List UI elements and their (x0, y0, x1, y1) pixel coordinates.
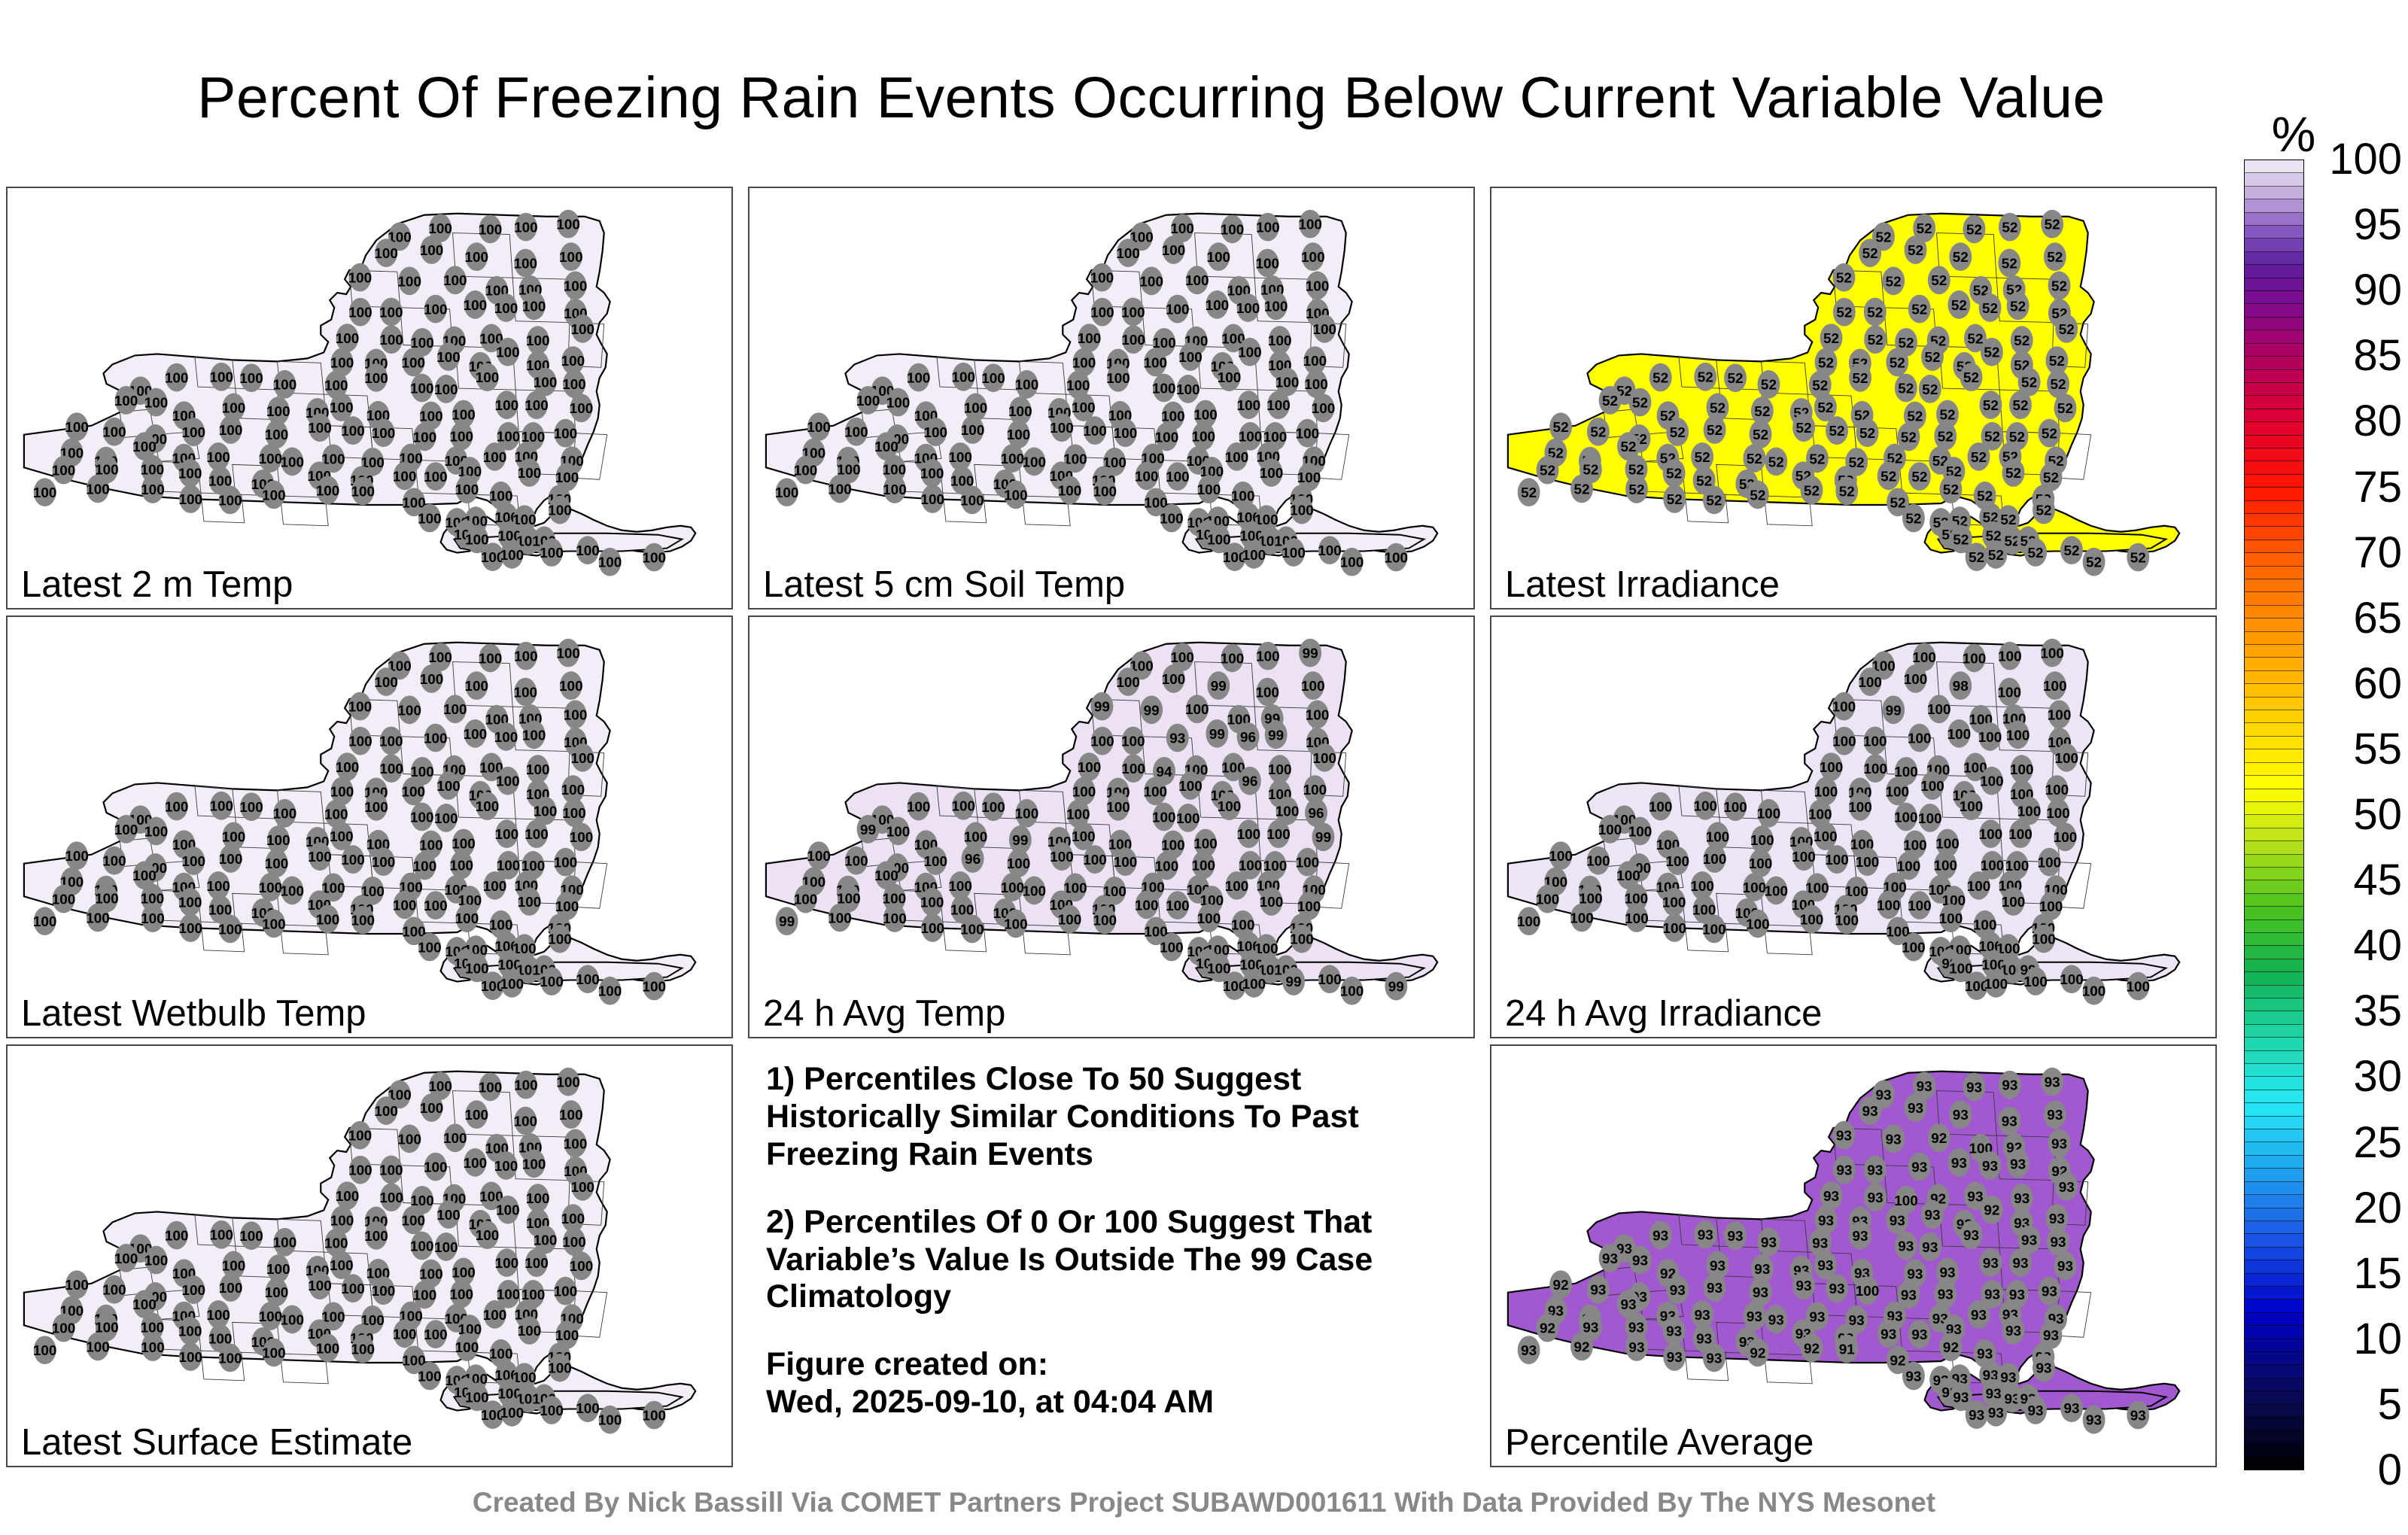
station-value: 100 (1072, 829, 1096, 845)
station-value: 52 (1988, 548, 2004, 564)
station-marker: 52 (1999, 213, 2021, 242)
station-value: 100 (86, 910, 110, 926)
station-value: 52 (1590, 425, 1606, 441)
station-value: 100 (1984, 977, 2008, 992)
station-value: 100 (514, 1078, 538, 1094)
station-value: 100 (102, 1283, 126, 1299)
station-value: 100 (496, 1203, 520, 1219)
station-value: 100 (1225, 879, 1249, 895)
station-value: 100 (1170, 221, 1194, 237)
station-value: 100 (2054, 830, 2078, 846)
colorbar-band (2245, 1405, 2303, 1418)
station-value: 100 (483, 1308, 507, 1324)
station-value: 100 (555, 470, 579, 486)
station-marker: 52 (2083, 548, 2105, 576)
colorbar-band (2245, 828, 2303, 841)
panel-latest-5cm-soil-temp[interactable]: 1001001001001001001001001001001001001001… (748, 187, 1475, 609)
station-value: 93 (1698, 1228, 1713, 1244)
station-value: 100 (144, 1254, 169, 1269)
station-value: 100 (455, 911, 479, 927)
station-marker: 91 (1835, 1335, 1858, 1363)
station-marker: 52 (1968, 442, 1990, 471)
station-value: 93 (1652, 1229, 1668, 1245)
colorbar-band (2245, 933, 2303, 946)
station-value: 93 (2005, 1324, 2021, 1339)
station-marker: 52 (2033, 496, 2055, 524)
station-value: 100 (132, 868, 157, 884)
station-value: 93 (1521, 1343, 1537, 1359)
station-marker: 93 (2055, 1172, 2078, 1201)
station-value: 100 (413, 430, 437, 445)
station-value: 100 (1015, 378, 1039, 394)
station-value: 100 (883, 911, 907, 927)
station-marker: 93 (1792, 1271, 1815, 1299)
colorbar-tick: 10 (2353, 1318, 2402, 1361)
station-value: 100 (643, 980, 667, 995)
station-value: 100 (923, 854, 947, 870)
station-value: 100 (907, 800, 931, 816)
station-marker: 52 (1856, 418, 1879, 447)
colorbar-band (2245, 396, 2303, 409)
colorbar-band (2245, 187, 2303, 199)
station-value: 100 (1001, 451, 1025, 467)
station-value: 100 (1260, 466, 1284, 482)
station-value: 100 (410, 810, 434, 826)
station-value: 93 (1905, 1369, 1921, 1385)
station-marker: 99 (1299, 639, 1321, 667)
station-value: 100 (418, 512, 442, 527)
station-value: 100 (1318, 543, 1342, 559)
station-value: 91 (1839, 1342, 1855, 1357)
station-value: 100 (1897, 859, 1921, 874)
station-value: 100 (1231, 489, 1255, 505)
colorbar-band (2245, 1025, 2303, 1038)
station-marker: 93 (2054, 1251, 2077, 1280)
station-value: 100 (2045, 783, 2069, 798)
station-value: 100 (222, 829, 246, 845)
station-value: 100 (1856, 1284, 1880, 1299)
station-value: 100 (1161, 837, 1185, 853)
station-marker: 52 (1518, 478, 1540, 506)
station-value: 100 (1160, 512, 1184, 527)
station-value: 100 (1007, 856, 1031, 872)
station-value: 100 (1723, 800, 1747, 816)
station-value: 100 (465, 532, 489, 548)
panel-label-latest-wetbulb-temp: Latest Wetbulb Temp (21, 995, 366, 1032)
station-value: 100 (2023, 974, 2048, 990)
station-value: 100 (514, 1114, 538, 1130)
station-value: 100 (420, 243, 444, 259)
station-value: 100 (1050, 850, 1074, 865)
station-value: 100 (2048, 707, 2072, 723)
panel-label-latest-irradiance: Latest Irradiance (1505, 567, 1780, 603)
station-value: 52 (1818, 355, 1834, 371)
panel-latest-surface-estimate[interactable]: 1001001001001001001001001001001001001001… (6, 1044, 733, 1467)
station-value: 100 (464, 298, 488, 314)
station-value: 93 (1812, 1236, 1828, 1251)
station-value: 93 (1590, 1283, 1606, 1299)
colorbar-band (2245, 1090, 2303, 1103)
station-value: 52 (1862, 246, 1878, 262)
station-value: 100 (2039, 899, 2063, 915)
station-value: 100 (483, 879, 507, 895)
station-value: 100 (1066, 807, 1090, 822)
station-value: 100 (1628, 825, 1652, 840)
station-marker: 52 (1979, 293, 2002, 322)
colorbar-band (2245, 330, 2303, 343)
station-value: 52 (2042, 427, 2057, 442)
station-value: 100 (393, 1327, 417, 1342)
station-value: 100 (324, 378, 348, 394)
station-value: 100 (364, 800, 388, 816)
station-value: 100 (424, 1327, 448, 1343)
station-marker: 52 (1895, 374, 1917, 403)
station-marker: 52 (1984, 540, 2007, 569)
station-value: 100 (52, 1321, 76, 1337)
station-value: 100 (419, 409, 443, 424)
station-value: 52 (1859, 426, 1875, 442)
station-value: 52 (1953, 532, 1969, 548)
station-value: 100 (1385, 551, 1409, 567)
station-marker: 52 (1905, 236, 1927, 264)
station-value: 100 (1135, 469, 1159, 485)
station-value: 52 (1907, 409, 1923, 424)
station-value: 100 (1207, 961, 1231, 977)
colorbar-tick: 85 (2353, 334, 2402, 378)
station-value: 100 (1242, 977, 1266, 992)
station-value: 100 (496, 345, 520, 361)
colorbar-tick: 15 (2353, 1252, 2402, 1296)
station-value: 100 (1918, 811, 1942, 827)
station-value: 100 (218, 1351, 242, 1366)
station-marker: 99 (776, 907, 798, 935)
colorbar-tick: 80 (2353, 400, 2402, 443)
station-value: 100 (948, 450, 972, 466)
station-marker: 52 (1859, 239, 1881, 267)
station-value: 52 (1868, 333, 1884, 348)
station-value: 96 (1242, 774, 1257, 790)
station-value: 52 (1951, 298, 1967, 314)
colorbar-band (2245, 501, 2303, 514)
station-value: 100 (336, 331, 360, 347)
station-value: 100 (1290, 503, 1314, 519)
station-value: 100 (239, 1229, 263, 1245)
station-value: 100 (1303, 354, 1327, 369)
station-value: 100 (1690, 879, 1714, 895)
station-marker: 52 (2024, 538, 2047, 567)
station-value: 100 (1318, 972, 1342, 988)
station-value: 100 (265, 1285, 289, 1301)
station-marker: 52 (1758, 370, 1780, 399)
colorbar-band (2245, 1011, 2303, 1024)
station-value: 93 (1917, 1079, 1932, 1095)
station-value: 52 (1969, 550, 1984, 566)
station-value: 100 (2002, 895, 2026, 910)
station-value: 93 (1823, 1189, 1839, 1205)
station-value: 100 (1570, 910, 1594, 926)
station-value: 100 (561, 354, 585, 369)
station-value: 52 (2021, 375, 2037, 391)
station-value: 100 (1178, 779, 1202, 795)
station-value: 52 (1553, 420, 1569, 436)
station-value: 100 (775, 485, 799, 501)
station-value: 52 (1812, 378, 1828, 394)
station-value: 100 (273, 807, 297, 822)
station-value: 100 (1978, 730, 2002, 746)
station-value: 100 (324, 1236, 348, 1251)
colorbar-band (2245, 1274, 2303, 1287)
station-marker: 93 (1905, 1093, 1927, 1122)
station-value: 100 (330, 355, 354, 371)
station-marker: 52 (1820, 324, 1843, 352)
station-value: 100 (1306, 278, 1330, 294)
station-value: 100 (141, 1340, 165, 1356)
station-value: 100 (920, 467, 944, 482)
station-value: 93 (1924, 1208, 1940, 1223)
station-marker: 93 (1625, 1333, 1648, 1361)
station-value: 100 (1814, 784, 1838, 800)
station-value: 52 (1971, 450, 1987, 466)
station-marker: 52 (1980, 391, 2002, 419)
station-value: 100 (920, 921, 944, 937)
station-marker: 100 (1340, 977, 1364, 1005)
station-value: 100 (1934, 858, 1958, 874)
station-value: 52 (1750, 488, 1765, 503)
station-marker: 100 (598, 977, 622, 1005)
station-value: 100 (1935, 836, 1960, 852)
colorbar-band (2245, 999, 2303, 1011)
station-value: 100 (165, 800, 189, 816)
station-marker: 93 (2007, 1150, 2029, 1178)
station-value: 100 (496, 774, 520, 790)
station-marker: 52 (1537, 456, 1559, 485)
station-value: 52 (1620, 439, 1636, 455)
station-marker: 99 (1312, 822, 1335, 851)
station-value: 100 (397, 274, 421, 290)
station-marker: 52 (1835, 477, 1858, 506)
station-marker: 93 (1750, 1278, 1772, 1306)
colorbar-band (2245, 1117, 2303, 1129)
station-value: 100 (1152, 381, 1176, 397)
colorbar-band (2245, 1038, 2303, 1050)
station-value: 100 (420, 672, 444, 688)
station-value: 100 (316, 483, 340, 499)
station-value: 100 (102, 854, 126, 870)
station-value: 100 (1116, 246, 1140, 262)
station-value: 52 (2010, 299, 2026, 315)
station-value: 52 (1901, 430, 1917, 445)
station-value: 93 (1796, 1278, 1812, 1294)
station-marker: 92 (1537, 1314, 1559, 1342)
map-latest-wetbulb-temp: 1001001001001001001001001001001001001001… (8, 617, 731, 1037)
colorbar-band (2245, 1129, 2303, 1142)
station-marker: 52 (1966, 543, 1988, 571)
colorbar-tick: 0 (2378, 1448, 2402, 1492)
colorbar-tick: 30 (2353, 1055, 2402, 1099)
station-value: 100 (951, 799, 975, 815)
station-value: 100 (1268, 333, 1292, 349)
station-value: 100 (330, 784, 354, 800)
station-marker: 52 (1570, 475, 1593, 503)
station-value: 92 (1931, 1131, 1947, 1147)
station-value: 100 (450, 858, 474, 874)
station-value: 100 (2054, 751, 2078, 767)
station-marker: 52 (2047, 369, 2069, 398)
colorbar-band (2245, 370, 2303, 383)
panel-percentile-average[interactable]: 9393939393939393939393939210092939393939… (1490, 1044, 2217, 1467)
station-value: 100 (1166, 302, 1190, 318)
station-value: 93 (1829, 1281, 1845, 1297)
station-value: 93 (2021, 1233, 2037, 1249)
station-value: 93 (1977, 1347, 1993, 1363)
colorbar-band (2245, 855, 2303, 868)
colorbar-band (2245, 527, 2303, 540)
station-value: 100 (524, 827, 549, 843)
station-value: 100 (132, 1297, 157, 1313)
station-value: 100 (52, 892, 76, 908)
station-value: 100 (1266, 827, 1291, 843)
station-value: 100 (364, 371, 388, 387)
station-value: 52 (1911, 470, 1927, 485)
colorbar-band (2245, 802, 2303, 815)
station-value: 100 (1297, 899, 1321, 915)
station-value: 100 (1139, 274, 1163, 290)
station-value: 93 (2130, 1409, 2146, 1424)
station-value: 100 (1093, 913, 1117, 929)
station-marker: 100 (33, 1336, 57, 1364)
station-value: 52 (1943, 482, 1959, 498)
station-marker: 93 (1963, 1073, 1986, 1102)
station-value: 100 (476, 1228, 500, 1244)
station-value: 100 (330, 1213, 354, 1229)
colorbar-band (2245, 880, 2303, 893)
station-value: 100 (1242, 548, 1266, 564)
station-value: 52 (1667, 492, 1683, 508)
station-value: 100 (2127, 980, 2151, 995)
station-value: 100 (266, 404, 290, 420)
colorbar-band (2245, 1326, 2303, 1339)
panel-latest-irradiance[interactable]: 5252525252525252525252525252525252525252… (1490, 187, 2217, 609)
station-value: 100 (1225, 450, 1249, 466)
colorbar-band (2245, 226, 2303, 239)
colorbar[interactable] (2244, 160, 2304, 1470)
station-value: 100 (576, 543, 600, 559)
station-value: 100 (206, 879, 230, 895)
station-value: 93 (1707, 1281, 1722, 1296)
station-value: 100 (239, 371, 263, 387)
panel-latest-2m-temp[interactable]: 1001001001001001001001001001001001001001… (6, 187, 733, 609)
station-value: 100 (1004, 488, 1028, 503)
station-value: 99 (779, 914, 795, 930)
colorbar-band (2245, 436, 2303, 448)
station-marker: 100 (33, 478, 57, 506)
station-value: 100 (1649, 800, 1673, 816)
station-value: 93 (2047, 1108, 2063, 1123)
station-value: 100 (428, 650, 452, 666)
colorbar-band (2245, 318, 2303, 330)
station-value: 100 (556, 646, 580, 662)
station-value: 52 (2049, 354, 2065, 369)
station-value: 100 (495, 827, 519, 843)
station-value: 93 (1836, 1129, 1852, 1144)
panel-24h-avg-irradiance[interactable]: 1001001001001001001009810010010099100100… (1490, 616, 2217, 1038)
colorbar-band (2245, 749, 2303, 762)
station-value: 100 (379, 305, 403, 321)
station-value: 100 (548, 932, 572, 948)
colorbar-tick: 95 (2353, 203, 2402, 247)
station-marker: 52 (1849, 363, 1871, 392)
station-value: 100 (483, 450, 507, 466)
station-value: 93 (1818, 1213, 1834, 1229)
figure-created-value: Wed, 2025-09-10, at 04:04 AM (766, 1384, 1467, 1421)
station-value: 93 (1768, 1312, 1784, 1328)
station-value: 100 (1090, 734, 1114, 750)
station-value: 52 (2043, 470, 2059, 486)
station-value: 100 (1848, 800, 1872, 816)
station-value: 100 (410, 381, 434, 397)
station-marker: 52 (2011, 326, 2033, 354)
map-latest-5cm-soil-temp: 1001001001001001001001001001001001001001… (749, 188, 1473, 608)
station-value: 100 (351, 1342, 375, 1357)
station-marker: 93 (1895, 1232, 1917, 1260)
station-value: 100 (1166, 898, 1190, 914)
station-value: 100 (500, 1406, 524, 1421)
station-value: 100 (920, 492, 944, 508)
station-value: 100 (1144, 784, 1168, 800)
station-value: 100 (1340, 984, 1364, 1000)
station-marker: 52 (1981, 338, 2003, 366)
station-value: 100 (479, 222, 503, 238)
station-value: 100 (464, 727, 488, 743)
station-value: 52 (1707, 423, 1722, 439)
ny-map-svg: 1001001001001001001001001001001001001001… (749, 188, 1473, 608)
station-marker: 100 (1517, 907, 1541, 935)
station-marker: 93 (2038, 1277, 2060, 1306)
station-value: 52 (1540, 464, 1555, 479)
station-value: 93 (2045, 1075, 2060, 1091)
station-value: 100 (1023, 883, 1047, 899)
station-value: 100 (1858, 675, 1882, 691)
station-value: 100 (526, 1191, 550, 1207)
station-value: 100 (1275, 804, 1300, 820)
station-value: 100 (1340, 555, 1364, 571)
panel-24h-avg-temp[interactable]: 1001001001009910010099100100999910010099… (748, 616, 1475, 1038)
station-marker: 93 (1663, 1317, 1686, 1345)
station-value: 100 (1665, 854, 1689, 870)
station-value: 100 (424, 470, 448, 485)
station-value: 100 (1886, 784, 1910, 800)
panel-label-24h-avg-irradiance: 24 h Avg Irradiance (1505, 995, 1822, 1032)
station-value: 100 (598, 1413, 622, 1429)
station-marker: 52 (2007, 292, 2029, 321)
station-value: 100 (218, 493, 242, 509)
panel-latest-wetbulb-temp[interactable]: 1001001001001001001001001001001001001001… (6, 616, 733, 1038)
station-marker: 52 (1765, 448, 1787, 476)
colorbar-band (2245, 1195, 2303, 1208)
station-marker: 52 (1832, 263, 1855, 292)
colorbar-band (2245, 894, 2303, 907)
station-value: 93 (1867, 1163, 1883, 1178)
station-value: 100 (564, 1136, 588, 1152)
station-marker: 52 (2044, 242, 2066, 271)
station-value: 100 (522, 1157, 546, 1172)
station-marker: 93 (1629, 1246, 1652, 1275)
station-value: 100 (883, 482, 907, 498)
station-value: 93 (2043, 1328, 2059, 1344)
station-value: 100 (1536, 892, 1560, 908)
station-marker: 52 (2038, 419, 2060, 448)
station-value: 99 (1388, 980, 1404, 995)
